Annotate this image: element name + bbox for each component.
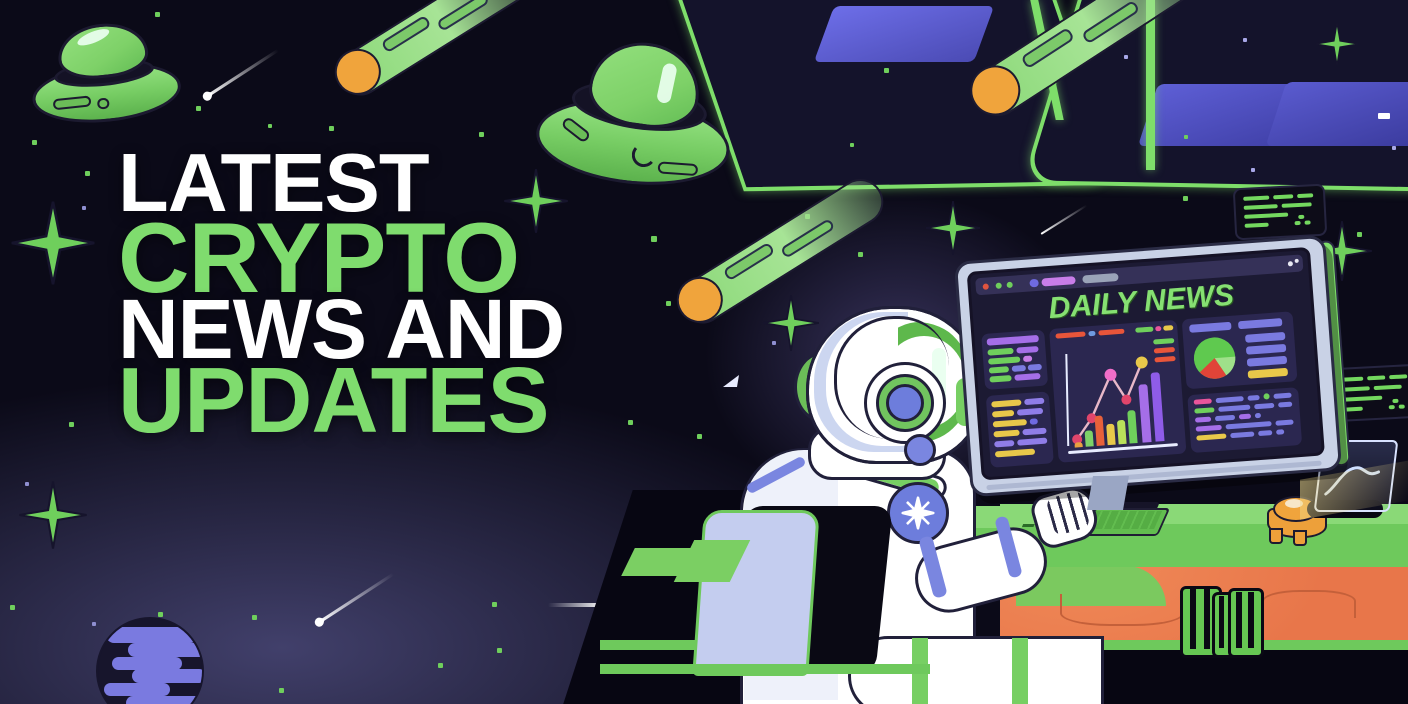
browser-tab-3[interactable] [1082,273,1118,284]
headline-line-4: UPDATES [118,359,564,443]
window-close-dot[interactable] [983,283,989,289]
browser-menu-dot[interactable] [1288,261,1293,266]
browser-tab-2[interactable] [1041,276,1075,286]
sparkle-star-bottom-left [18,480,88,555]
panel-center-chart[interactable] [1049,320,1186,463]
browser-tab-1[interactable] [1029,279,1039,288]
panel-left-bottom[interactable] [986,391,1054,467]
panel-left-top[interactable] [981,330,1048,390]
panel-right-list[interactable] [1187,387,1302,453]
window-max-dot[interactable] [1006,282,1012,288]
panel-right-pie[interactable] [1182,311,1298,389]
bar-1 [1074,442,1082,448]
bar-5 [1117,420,1127,445]
bar-4 [1106,424,1116,446]
bar-2 [1085,430,1094,447]
sparkle-star-top-right [1315,22,1359,71]
planet-bottom-left [96,617,204,704]
monitor[interactable]: DAILY NEWS [954,235,1342,498]
headline-block: LATEST CRYPTO NEWS AND UPDATES [118,146,564,443]
monitor-screen[interactable]: DAILY NEWS [967,247,1325,481]
sparkle-star-large-left [10,200,96,291]
ufo-top-left [25,15,180,130]
pie-chart [1190,333,1239,382]
sparkle-star-astro [925,200,981,261]
monitor-stand [1087,476,1129,510]
star-badge-icon [887,482,949,544]
window-min-dot[interactable] [996,283,1002,289]
crypto-news-banner: LATEST CRYPTO NEWS AND UPDATES [0,0,1408,704]
